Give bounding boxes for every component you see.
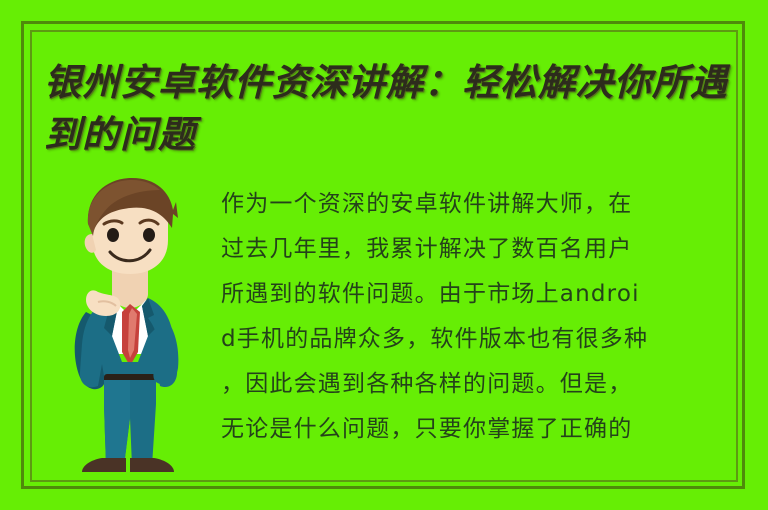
poster-title: 银州安卓软件资深讲解：轻松解决你所遇到的问题 <box>44 56 734 160</box>
poster-canvas: 银州安卓软件资深讲解：轻松解决你所遇到的问题 <box>0 0 768 510</box>
thinking-businessman-illustration <box>52 176 204 476</box>
poster-body-text: 作为一个资深的安卓软件讲解大师，在 过去几年里，我累计解决了数百名用户 所遇到的… <box>221 182 733 452</box>
